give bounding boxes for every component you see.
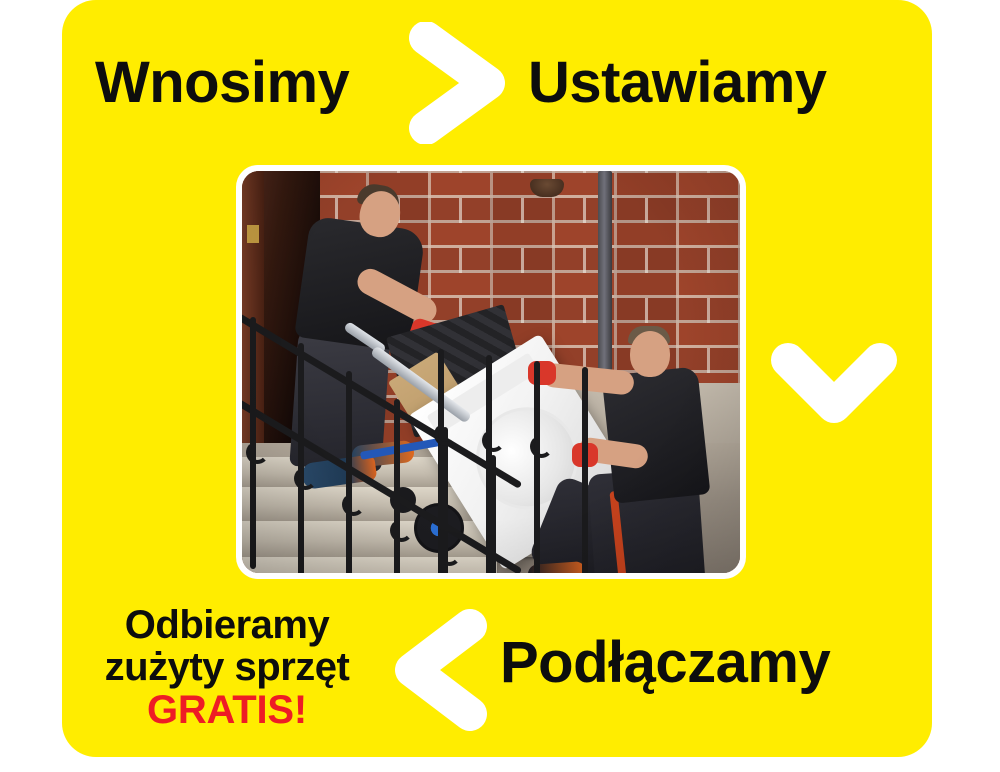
railing-post [582, 367, 588, 573]
railing-post [486, 355, 492, 573]
worker2-head [630, 331, 670, 377]
railing-scroll-ornament [390, 519, 413, 542]
workers-delivery-photo [242, 171, 740, 573]
railing-post [438, 349, 444, 573]
odbieramy-line-2: zużyty sprzęt [62, 646, 392, 688]
chevron-down-icon [768, 330, 900, 442]
railing-scroll-ornament [482, 429, 505, 452]
wall-vent [530, 179, 564, 197]
chevron-left-icon [382, 606, 500, 734]
photo-frame [236, 165, 746, 579]
railing-scroll-ornament [434, 423, 457, 446]
railing-scroll-ornament [342, 493, 365, 516]
step-label-ustawiamy: Ustawiamy [528, 54, 827, 112]
step-label-wnosimy: Wnosimy [95, 54, 349, 112]
step-label-podlaczamy: Podłączamy [500, 634, 830, 692]
railing-scroll-ornament [246, 441, 269, 464]
chevron-right-icon [396, 22, 520, 144]
door-plate [247, 225, 259, 243]
step-label-odbieramy-block: Odbieramy zużyty sprzęt GRATIS! [62, 604, 392, 731]
odbieramy-line-1: Odbieramy [62, 604, 392, 646]
railing-post [298, 343, 304, 573]
railing-scroll-ornament [294, 467, 317, 490]
odbieramy-gratis-highlight: GRATIS! [62, 689, 392, 731]
promo-banner: Wnosimy Ustawiamy [0, 0, 1000, 772]
railing-post [394, 399, 400, 573]
railing-scroll-ornament [530, 435, 553, 458]
railing-post [534, 361, 540, 573]
railing-post [346, 371, 352, 573]
iron-railing-centre [428, 349, 618, 573]
